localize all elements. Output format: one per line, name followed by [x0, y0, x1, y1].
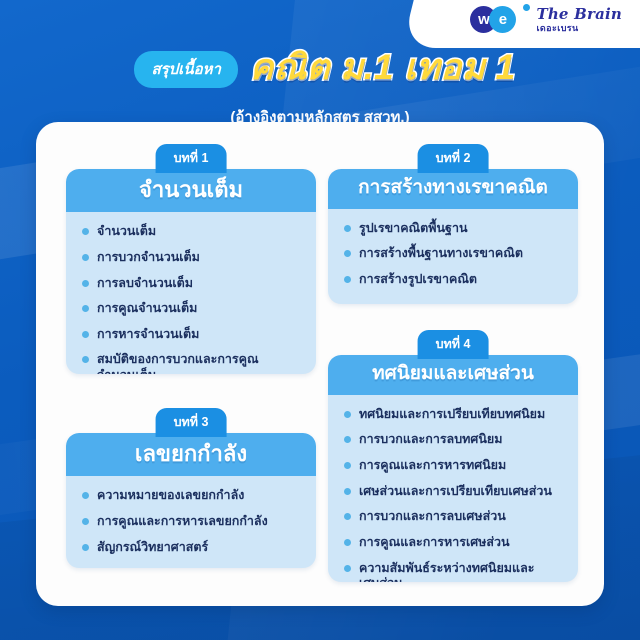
list-item: สัญกรณ์วิทยาศาสตร์: [82, 540, 302, 556]
title-row: สรุปเนื้อหา คณิต ม.1 เทอม 1: [0, 40, 640, 95]
chapter-card-2: บทที่ 2 การสร้างทางเรขาคณิต รูปเรขาคณิตพ…: [328, 144, 578, 304]
chapter-badge: บทที่ 3: [156, 408, 227, 437]
list-item: การคูณและการหารเลขยกกำลัง: [82, 514, 302, 530]
chapter-badge: บทที่ 1: [156, 144, 227, 173]
list-item-label: รูปเรขาคณิตพื้นฐาน: [359, 221, 468, 237]
chapter-card-body: จำนวนเต็ม จำนวนเต็มการบวกจำนวนเต็มการลบจ…: [66, 169, 316, 374]
list-item: การคูณและการหารเศษส่วน: [344, 535, 564, 551]
list-item: การสร้างรูปเรขาคณิต: [344, 272, 564, 288]
chapter-title: การสร้างทางเรขาคณิต: [328, 169, 578, 209]
chapter-card-body: การสร้างทางเรขาคณิต รูปเรขาคณิตพื้นฐานกา…: [328, 169, 578, 304]
bullet-dot-icon: [82, 331, 89, 338]
bullet-dot-icon: [82, 228, 89, 235]
chapter-card-3: บทที่ 3 เลขยกกำลัง ความหมายของเลขยกกำลัง…: [66, 408, 316, 568]
list-item-label: ความสัมพันธ์ระหว่างทศนิยมและเศษส่วน: [359, 561, 564, 582]
bullet-dot-icon: [82, 544, 89, 551]
list-item: เศษส่วนและการเปรียบเทียบเศษส่วน: [344, 484, 564, 500]
list-item-label: จำนวนเต็ม: [97, 224, 156, 240]
list-item: การบวกและการลบทศนิยม: [344, 432, 564, 448]
bullet-dot-icon: [82, 356, 89, 363]
list-item-label: การบวกและการลบเศษส่วน: [359, 509, 506, 525]
list-item: การสร้างพื้นฐานทางเรขาคณิต: [344, 246, 564, 262]
page-title: คณิต ม.1 เทอม 1: [250, 40, 516, 95]
list-item-label: การคูณและการหารเลขยกกำลัง: [97, 514, 268, 530]
bullet-dot-icon: [344, 276, 351, 283]
chapter-topic-list: ความหมายของเลขยกกำลังการคูณและการหารเลขย…: [66, 476, 316, 565]
summary-pill: สรุปเนื้อหา: [134, 51, 237, 88]
bullet-dot-icon: [82, 280, 89, 287]
list-item-label: การบวกและการลบทศนิยม: [359, 432, 502, 448]
list-item-label: การบวกจำนวนเต็ม: [97, 250, 200, 266]
bullet-dot-icon: [344, 225, 351, 232]
list-item: การลบจำนวนเต็ม: [82, 276, 302, 292]
list-item: ทศนิยมและการเปรียบเทียบทศนิยม: [344, 407, 564, 423]
list-item-label: การสร้างรูปเรขาคณิต: [359, 272, 477, 288]
chapter-topic-list: ทศนิยมและการเปรียบเทียบทศนิยมการบวกและกา…: [328, 395, 578, 582]
we-logo-icon: w e: [470, 6, 525, 33]
bullet-dot-icon: [344, 250, 351, 257]
bullet-dot-icon: [82, 305, 89, 312]
brand-name-en: The Brain: [536, 7, 622, 22]
chapter-topic-list: รูปเรขาคณิตพื้นฐานการสร้างพื้นฐานทางเรขา…: [328, 209, 578, 298]
list-item-label: เศษส่วนและการเปรียบเทียบเศษส่วน: [359, 484, 552, 500]
list-item-label: ความหมายของเลขยกกำลัง: [97, 488, 244, 504]
bullet-dot-icon: [344, 462, 351, 469]
list-item: ความสัมพันธ์ระหว่างทศนิยมและเศษส่วน: [344, 561, 564, 582]
chapter-badge: บทที่ 4: [418, 330, 489, 359]
bullet-dot-icon: [344, 565, 351, 572]
chapter-topic-list: จำนวนเต็มการบวกจำนวนเต็มการลบจำนวนเต็มกา…: [66, 212, 316, 374]
chapter-title: จำนวนเต็ม: [66, 169, 316, 212]
list-item-label: การลบจำนวนเต็ม: [97, 276, 193, 292]
chapter-title: เลขยกกำลัง: [66, 433, 316, 476]
chapter-badge: บทที่ 2: [418, 144, 489, 173]
we-dot-icon: [523, 4, 530, 11]
list-item-label: สมบัติของการบวกและการคูณจำนวนเต็ม: [97, 352, 302, 374]
brand-name-block: The Brain เดอะเบรน: [536, 7, 622, 33]
list-item: การคูณและการหารทศนิยม: [344, 458, 564, 474]
list-item: สมบัติของการบวกและการคูณจำนวนเต็ม: [82, 352, 302, 374]
we-letter-e: e: [489, 6, 516, 33]
list-item: การหารจำนวนเต็ม: [82, 327, 302, 343]
list-item: รูปเรขาคณิตพื้นฐาน: [344, 221, 564, 237]
chapter-title: ทศนิยมและเศษส่วน: [328, 355, 578, 395]
page-header: สรุปเนื้อหา คณิต ม.1 เทอม 1 (อ้างอิงตามห…: [0, 40, 640, 129]
bullet-dot-icon: [344, 436, 351, 443]
chapter-card-1: บทที่ 1 จำนวนเต็ม จำนวนเต็มการบวกจำนวนเต…: [66, 144, 316, 374]
list-item: การคูณจำนวนเต็ม: [82, 301, 302, 317]
list-item: การบวกและการลบเศษส่วน: [344, 509, 564, 525]
chapter-card-4: บทที่ 4 ทศนิยมและเศษส่วน ทศนิยมและการเปร…: [328, 330, 578, 582]
bullet-dot-icon: [344, 488, 351, 495]
brand-logo: w e The Brain เดอะเบรน: [470, 6, 622, 33]
list-item: การบวกจำนวนเต็ม: [82, 250, 302, 266]
brand-name-th: เดอะเบรน: [536, 24, 622, 33]
bullet-dot-icon: [344, 411, 351, 418]
chapter-card-body: ทศนิยมและเศษส่วน ทศนิยมและการเปรียบเทียบ…: [328, 355, 578, 582]
bullet-dot-icon: [344, 539, 351, 546]
bullet-dot-icon: [82, 492, 89, 499]
list-item: จำนวนเต็ม: [82, 224, 302, 240]
bullet-dot-icon: [82, 254, 89, 261]
chapter-card-body: เลขยกกำลัง ความหมายของเลขยกกำลังการคูณแล…: [66, 433, 316, 568]
bullet-dot-icon: [82, 518, 89, 525]
list-item-label: การคูณและการหารเศษส่วน: [359, 535, 510, 551]
list-item-label: สัญกรณ์วิทยาศาสตร์: [97, 540, 208, 556]
list-item-label: การสร้างพื้นฐานทางเรขาคณิต: [359, 246, 523, 262]
list-item: ความหมายของเลขยกกำลัง: [82, 488, 302, 504]
list-item-label: การคูณและการหารทศนิยม: [359, 458, 506, 474]
list-item-label: การหารจำนวนเต็ม: [97, 327, 199, 343]
bullet-dot-icon: [344, 513, 351, 520]
list-item-label: ทศนิยมและการเปรียบเทียบทศนิยม: [359, 407, 545, 423]
list-item-label: การคูณจำนวนเต็ม: [97, 301, 197, 317]
